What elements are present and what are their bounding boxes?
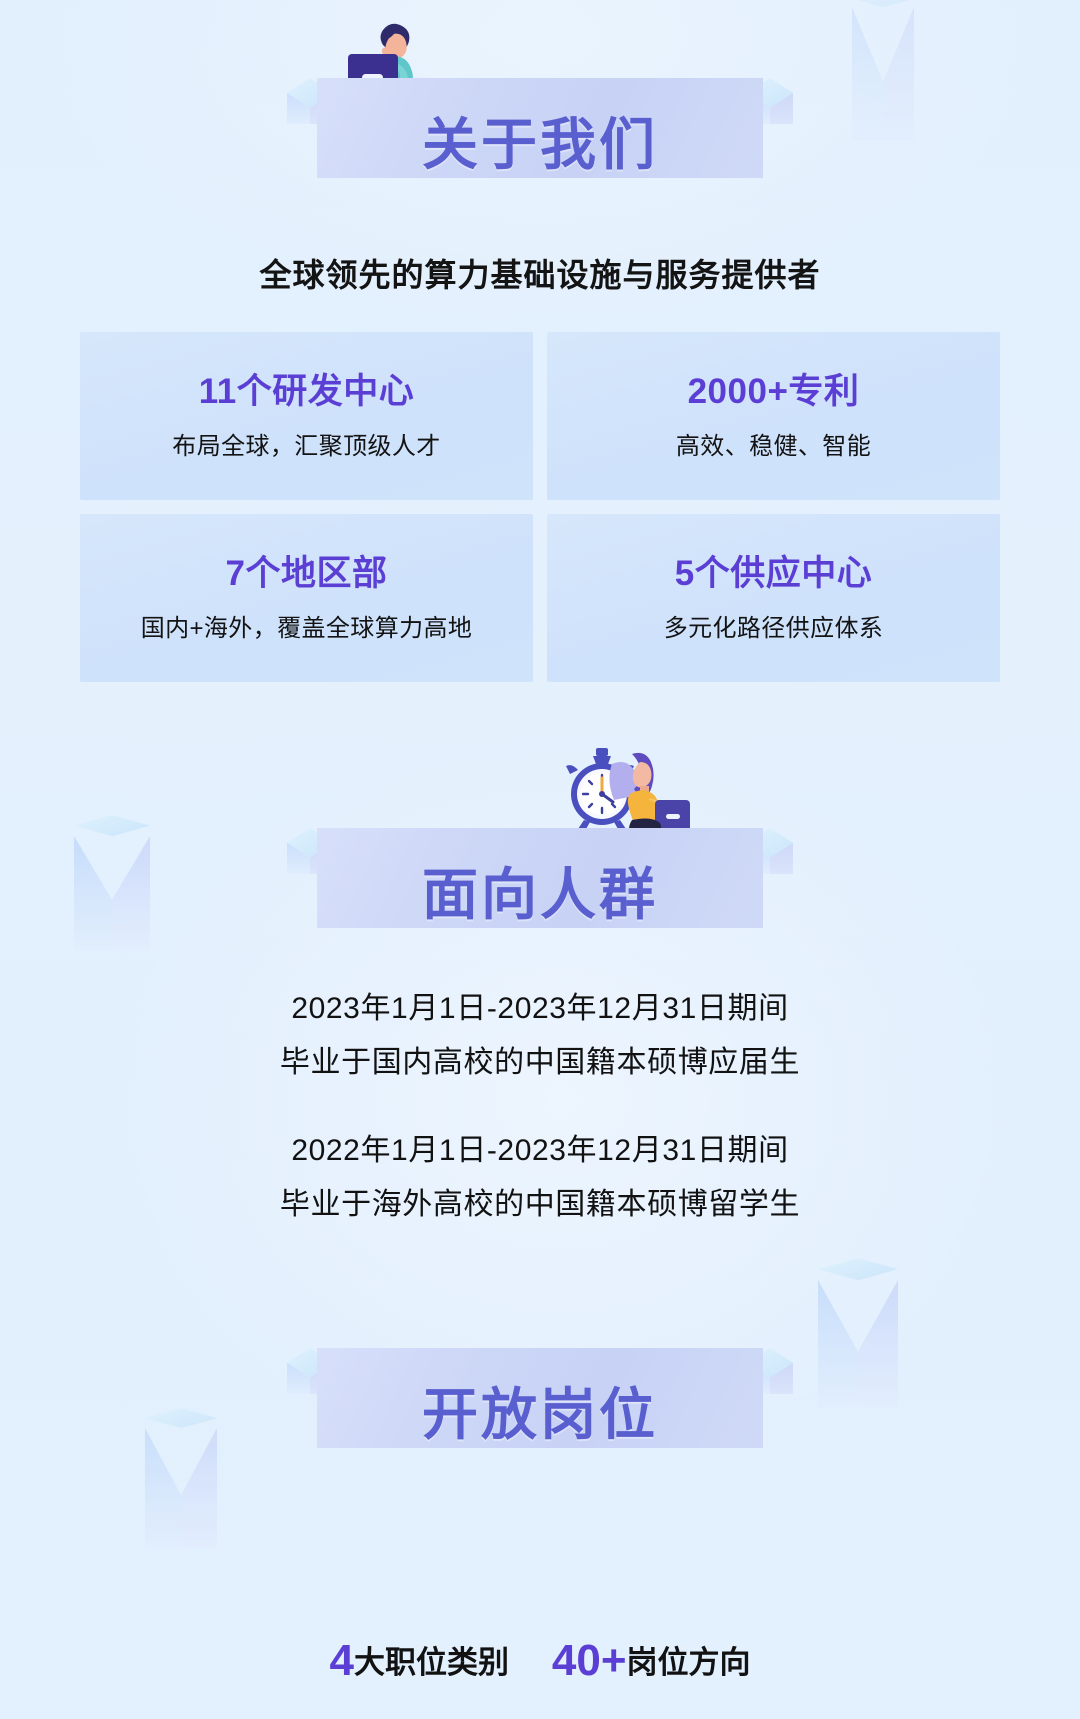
stat-card-title: 5个供应中心 (675, 545, 872, 596)
stat-card-desc: 国内+海外，覆盖全球算力高地 (141, 608, 473, 643)
paragraph-line: 毕业于国内高校的中国籍本硕博应届生 (0, 1036, 1080, 1090)
stat-card-desc: 布局全球，汇聚顶级人才 (172, 426, 440, 461)
position-direction-label: 岗位方向 (627, 1645, 751, 1680)
stat-card-desc: 高效、稳健、智能 (676, 426, 871, 461)
stat-cards-grid: 11个研发中心 布局全球，汇聚顶级人才 2000+专利 高效、稳健、智能 7个地… (80, 332, 1000, 682)
decorative-pillar-right-lower (818, 1258, 898, 1408)
stat-card-title: 11个研发中心 (199, 363, 415, 414)
position-category-label: 大职位类别 (354, 1645, 509, 1680)
banner-title-open-positions: 开放岗位 (317, 1370, 763, 1451)
stat-card[interactable]: 11个研发中心 布局全球，汇聚顶级人才 (80, 332, 533, 500)
paragraph-line: 2023年1月1日-2023年12月31日期间 (0, 982, 1080, 1036)
decorative-pillar-top-right (852, 0, 914, 140)
decorative-pillar-mid-left (74, 815, 150, 950)
banner-about-us: 关于我们 (317, 78, 763, 178)
banner-open-positions: 开放岗位 (317, 1348, 763, 1448)
audience-paragraph: 2023年1月1日-2023年12月31日期间 毕业于国内高校的中国籍本硕博应届… (0, 982, 1080, 1090)
stat-card[interactable]: 2000+专利 高效、稳健、智能 (547, 332, 1000, 500)
section-subtitle-about-us: 全球领先的算力基础设施与服务提供者 (0, 250, 1080, 296)
banner-title-target-audience: 面向人群 (317, 850, 763, 931)
stat-card[interactable]: 5个供应中心 多元化路径供应体系 (547, 514, 1000, 682)
stat-card[interactable]: 7个地区部 国内+海外，覆盖全球算力高地 (80, 514, 533, 682)
poster-page: 关于我们 全球领先的算力基础设施与服务提供者 11个研发中心 布局全球，汇聚顶级… (0, 0, 1080, 1719)
audience-paragraph: 2022年1月1日-2023年12月31日期间 毕业于海外高校的中国籍本硕博留学… (0, 1124, 1080, 1232)
decorative-pillar-bottom-left (145, 1408, 217, 1548)
stat-card-desc: 多元化路径供应体系 (664, 608, 884, 643)
paragraph-line: 2022年1月1日-2023年12月31日期间 (0, 1124, 1080, 1178)
position-direction-number: 40+ (552, 1636, 627, 1685)
position-category-stat: 4大职位类别 (329, 1660, 513, 1677)
stat-card-title: 2000+专利 (688, 363, 860, 414)
position-category-number: 4 (329, 1636, 353, 1685)
position-direction-stat: 40+岗位方向 (552, 1660, 751, 1677)
paragraph-line: 毕业于海外高校的中国籍本硕博留学生 (0, 1178, 1080, 1232)
banner-target-audience: 面向人群 (317, 828, 763, 928)
banner-title-about-us: 关于我们 (317, 100, 763, 181)
open-positions-stats: 4大职位类别 40+岗位方向 (0, 1636, 1080, 1686)
stat-card-title: 7个地区部 (226, 545, 388, 596)
audience-paragraphs: 2023年1月1日-2023年12月31日期间 毕业于国内高校的中国籍本硕博应届… (0, 982, 1080, 1232)
